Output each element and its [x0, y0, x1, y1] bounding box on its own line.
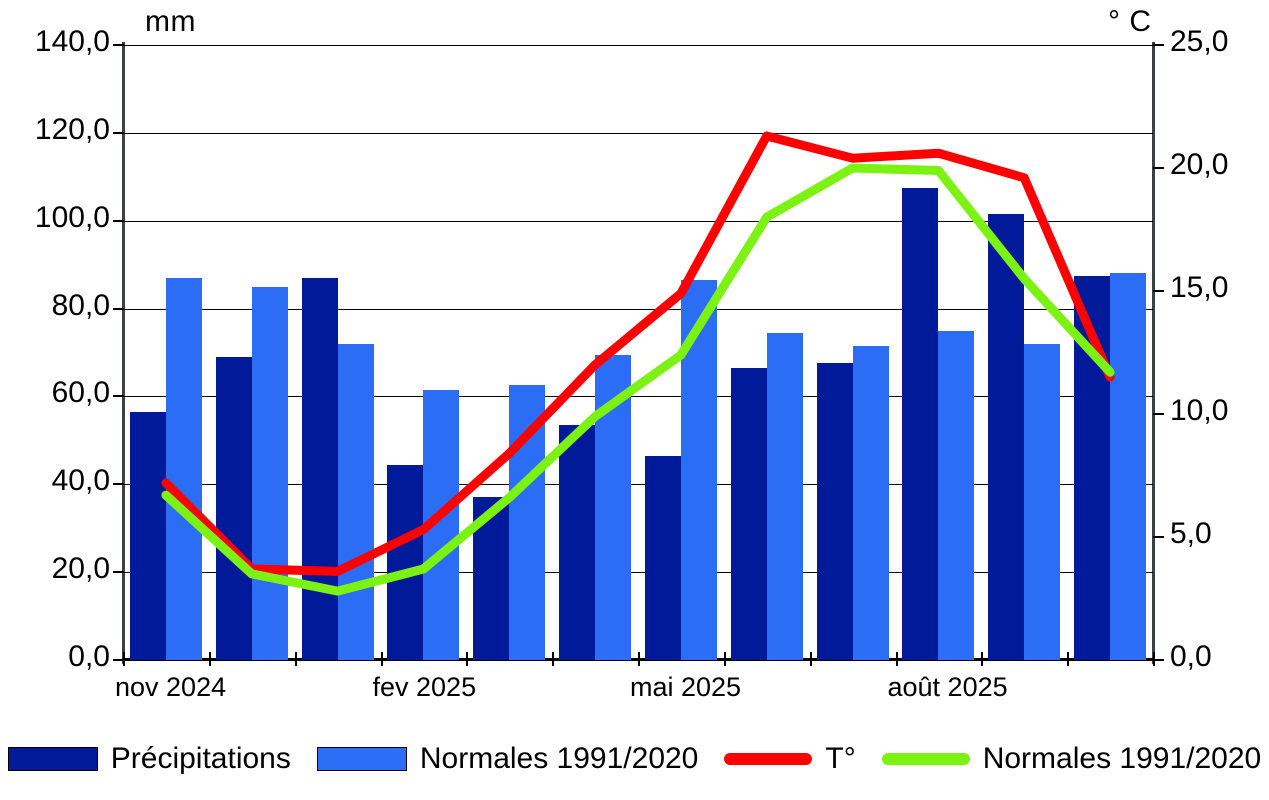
right-tick-label: 15,0	[1170, 271, 1269, 305]
legend-swatch-line	[882, 753, 970, 765]
right-tick-mark	[1153, 536, 1164, 538]
right-tick-label: 0,0	[1170, 640, 1269, 674]
legend-label: Normales 1991/2020	[983, 742, 1262, 776]
right-axis-unit-label: ° C	[1108, 5, 1152, 39]
legend-swatch-line	[724, 753, 812, 765]
right-tick-mark	[1153, 290, 1164, 292]
legend-item: Précipitations	[8, 742, 291, 776]
left-tick-label: 60,0	[0, 376, 110, 410]
chart-legend: PrécipitationsNormales 1991/2020T°Normal…	[0, 742, 1269, 776]
right-tick-mark	[1153, 167, 1164, 169]
right-tick-mark	[1153, 413, 1164, 415]
left-tick-label: 20,0	[0, 552, 110, 586]
left-tick-label: 100,0	[0, 201, 110, 235]
left-tick-label: 140,0	[0, 25, 110, 59]
right-tick-label: 10,0	[1170, 394, 1269, 428]
x-tick-mark	[1153, 652, 1155, 666]
legend-swatch-bar	[317, 747, 407, 771]
right-tick-label: 5,0	[1170, 517, 1269, 551]
x-axis-label: nov 2024	[115, 672, 226, 703]
legend-label: Précipitations	[111, 742, 291, 776]
plot-area	[123, 45, 1153, 660]
legend-item: Normales 1991/2020	[317, 742, 699, 776]
left-tick-label: 120,0	[0, 113, 110, 147]
left-tick-label: 0,0	[0, 640, 110, 674]
climate-chart: mm ° C 140,0120,0100,080,060,040,020,00,…	[0, 0, 1269, 800]
left-tick-label: 40,0	[0, 464, 110, 498]
line-series-group	[123, 45, 1153, 660]
legend-item: Normales 1991/2020	[882, 742, 1262, 776]
right-tick-label: 25,0	[1170, 25, 1269, 59]
x-axis-label: août 2025	[888, 672, 1008, 703]
legend-label: T°	[825, 742, 855, 776]
legend-label: Normales 1991/2020	[420, 742, 699, 776]
right-tick-mark	[1153, 44, 1164, 46]
x-axis-label: mai 2025	[630, 672, 741, 703]
legend-swatch-bar	[8, 747, 98, 771]
x-axis-label: fev 2025	[373, 672, 477, 703]
left-axis-unit-label: mm	[145, 5, 196, 39]
line-normales-temperature	[166, 168, 1110, 591]
legend-item: T°	[724, 742, 855, 776]
right-tick-label: 20,0	[1170, 148, 1269, 182]
left-tick-label: 80,0	[0, 289, 110, 323]
